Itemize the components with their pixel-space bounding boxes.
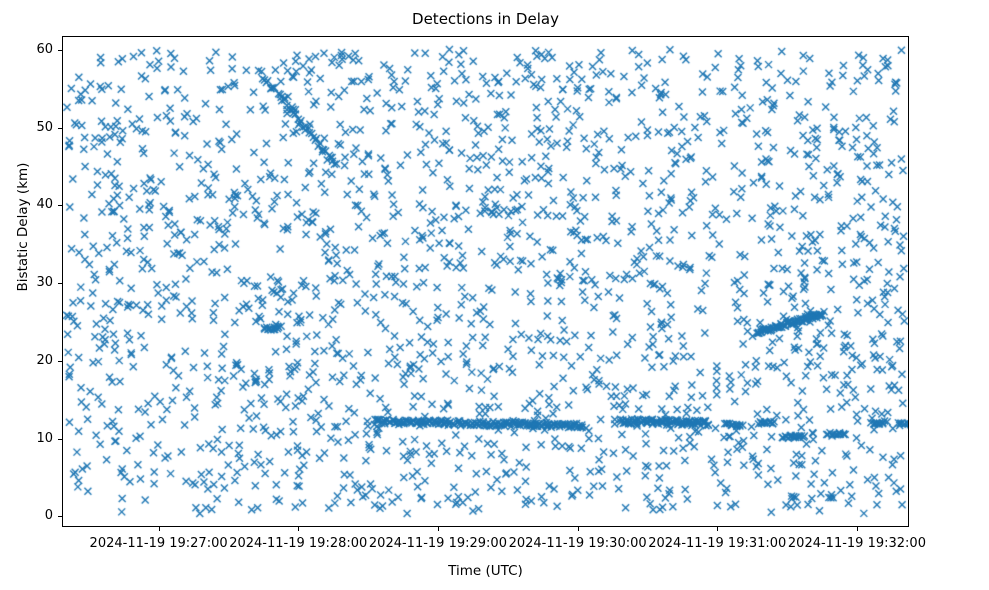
x-tick-mark: [298, 527, 299, 531]
x-tick-label: 2024-11-19 19:27:00: [90, 536, 228, 551]
x-tick-label: 2024-11-19 19:30:00: [509, 536, 647, 551]
x-tick-mark: [438, 527, 439, 531]
scatter-plot-canvas: [63, 37, 908, 526]
y-tick-label: 60: [36, 43, 53, 57]
x-tick-label: 2024-11-19 19:28:00: [229, 536, 367, 551]
x-tick-mark: [717, 527, 718, 531]
y-tick-label: 50: [36, 121, 53, 135]
y-tick-label: 30: [36, 276, 53, 290]
y-axis: 0102030405060 Bistatic Delay (km): [0, 36, 62, 527]
y-tick-label: 0: [45, 509, 53, 523]
x-axis: 2024-11-19 19:27:002024-11-19 19:28:0020…: [62, 527, 909, 590]
x-tick-mark: [857, 527, 858, 531]
chart-title: Detections in Delay: [62, 10, 909, 28]
y-tick-label: 20: [36, 354, 53, 368]
y-tick-label: 10: [36, 432, 53, 446]
x-axis-label: Time (UTC): [62, 563, 909, 579]
y-tick-label: 40: [36, 198, 53, 212]
x-tick-label: 2024-11-19 19:32:00: [788, 536, 926, 551]
matplotlib-figure: Detections in Delay 0102030405060 Bistat…: [0, 0, 989, 590]
x-tick-mark: [159, 527, 160, 531]
x-tick-label: 2024-11-19 19:29:00: [369, 536, 507, 551]
x-tick-mark: [578, 527, 579, 531]
y-axis-label: Bistatic Delay (km): [15, 102, 31, 352]
plot-area: [62, 36, 909, 527]
x-tick-label: 2024-11-19 19:31:00: [648, 536, 786, 551]
